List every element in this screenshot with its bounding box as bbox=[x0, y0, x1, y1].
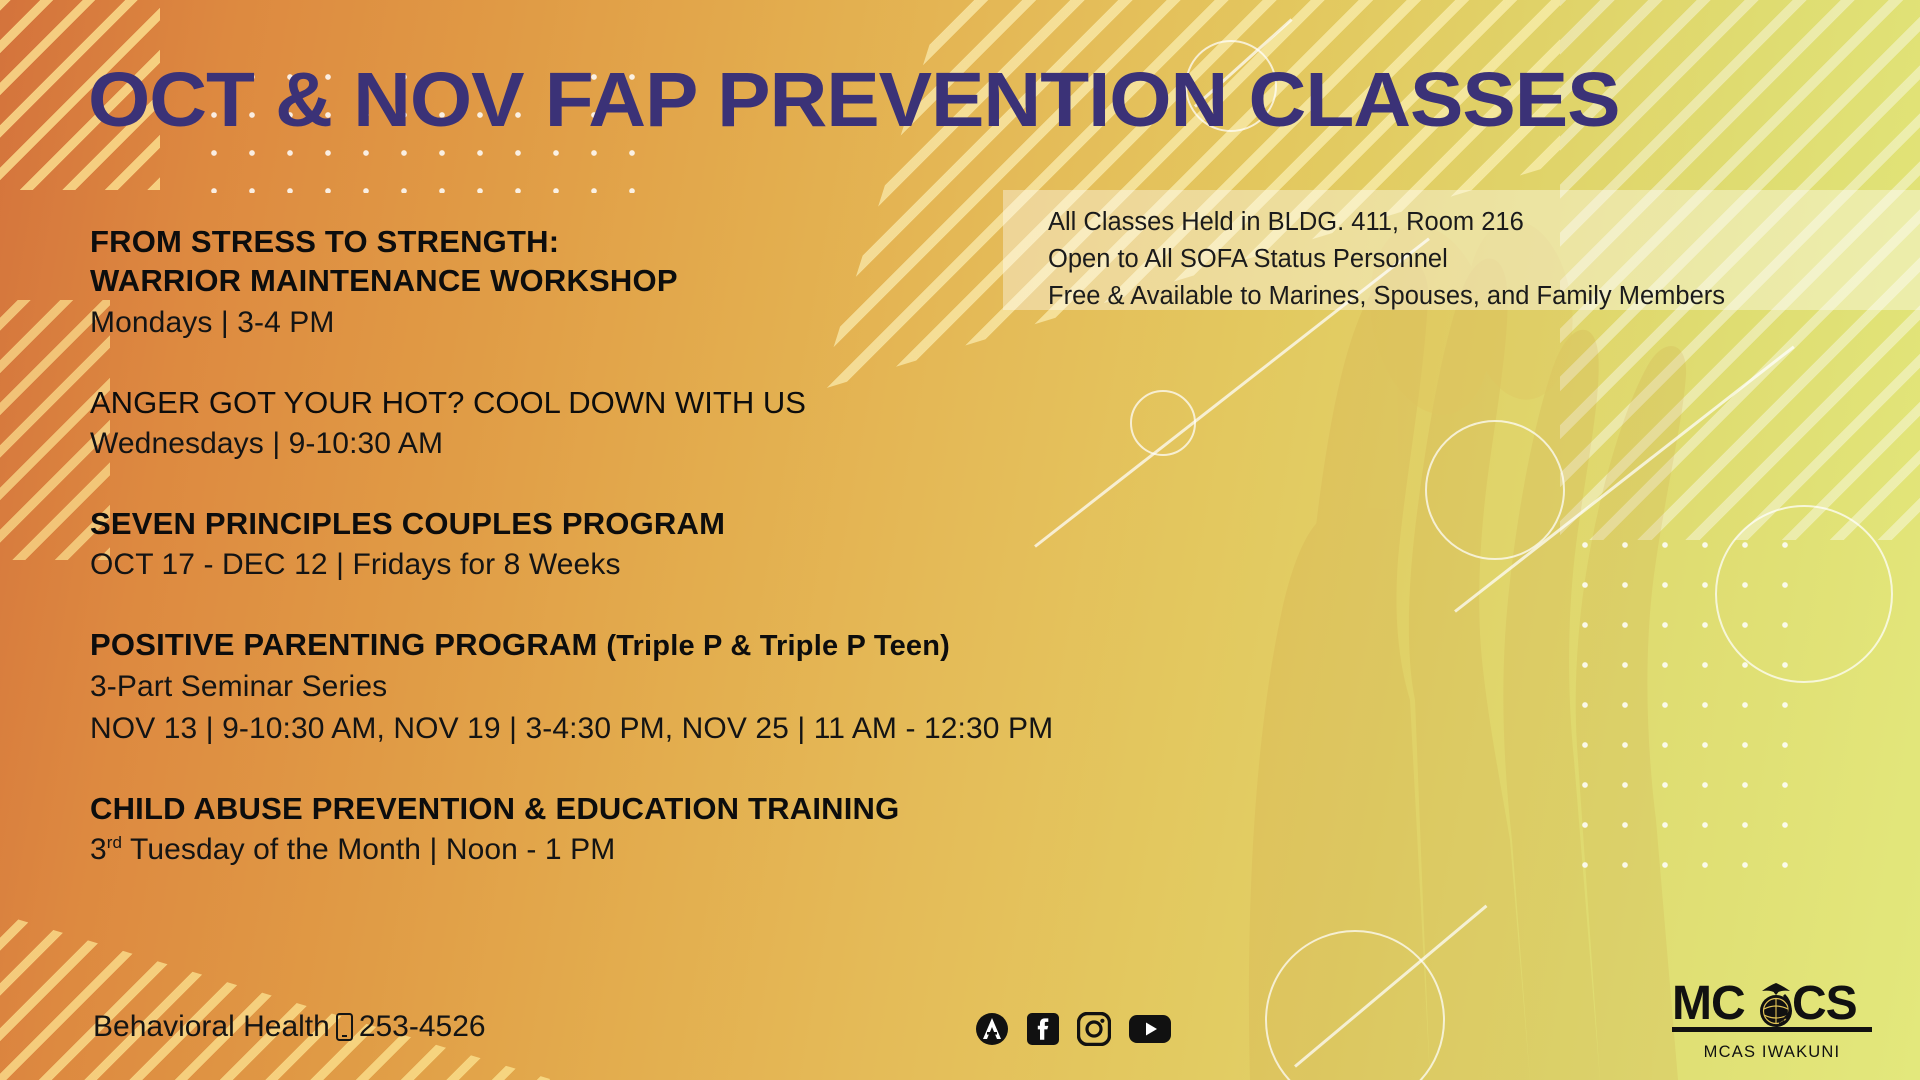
social-icons bbox=[975, 1012, 1172, 1046]
class-schedule: NOV 13 | 9-10:30 AM, NOV 19 | 3-4:30 PM,… bbox=[90, 709, 1270, 749]
class-item-stress-to-strength: FROM STRESS TO STRENGTH: WARRIOR MAINTEN… bbox=[90, 222, 1270, 343]
mccs-wordmark: MC CS bbox=[1672, 975, 1872, 1037]
logo-subtitle: MCAS IWAKUNI bbox=[1672, 1043, 1872, 1062]
class-item-child-abuse-prevention: CHILD ABUSE PREVENTION & EDUCATION TRAIN… bbox=[90, 789, 1270, 870]
svg-text:MC: MC bbox=[1672, 977, 1745, 1030]
class-heading-main: POSITIVE PARENTING PROGRAM bbox=[90, 627, 598, 662]
class-heading-parenthetical: (Triple P & Triple P Teen) bbox=[606, 630, 950, 662]
page-title: OCT & NOV FAP PREVENTION CLASSES bbox=[88, 56, 1619, 145]
mobile-phone-icon bbox=[336, 1013, 353, 1041]
facebook-icon[interactable] bbox=[1026, 1012, 1060, 1046]
class-item-seven-principles: SEVEN PRINCIPLES COUPLES PROGRAM OCT 17 … bbox=[90, 504, 1270, 585]
apple-music-icon[interactable] bbox=[975, 1012, 1009, 1046]
class-heading: CHILD ABUSE PREVENTION & EDUCATION TRAIN… bbox=[90, 789, 1270, 828]
class-schedule: 3rd Tuesday of the Month | Noon - 1 PM bbox=[90, 830, 1270, 870]
class-heading: FROM STRESS TO STRENGTH: bbox=[90, 222, 1270, 261]
class-item-anger-management: ANGER GOT YOUR HOT? COOL DOWN WITH US We… bbox=[90, 383, 1270, 464]
schedule-ordinal-number: 3 bbox=[90, 833, 107, 866]
schedule-ordinal-suffix: rd bbox=[107, 833, 122, 852]
class-schedule: Mondays | 3-4 PM bbox=[90, 303, 1270, 343]
flyer-canvas: OCT & NOV FAP PREVENTION CLASSES All Cla… bbox=[0, 0, 1920, 1080]
class-heading: ANGER GOT YOUR HOT? COOL DOWN WITH US bbox=[90, 383, 1270, 422]
mccs-logo: MC CS MCAS IWAKUNI bbox=[1672, 975, 1872, 1062]
class-schedule: OCT 17 - DEC 12 | Fridays for 8 Weeks bbox=[90, 545, 1270, 585]
schedule-rest: Tuesday of the Month | Noon - 1 PM bbox=[122, 833, 615, 866]
contact-line: Behavioral Health 253-4526 bbox=[93, 1010, 486, 1044]
class-heading: SEVEN PRINCIPLES COUPLES PROGRAM bbox=[90, 504, 1270, 543]
youtube-icon[interactable] bbox=[1128, 1013, 1172, 1045]
instagram-icon[interactable] bbox=[1077, 1012, 1111, 1046]
class-item-positive-parenting: POSITIVE PARENTING PROGRAM (Triple P & T… bbox=[90, 625, 1270, 749]
phone-number[interactable]: 253-4526 bbox=[359, 1010, 486, 1044]
class-heading-line2: WARRIOR MAINTENANCE WORKSHOP bbox=[90, 261, 1270, 300]
eagle-globe-anchor-icon bbox=[1760, 983, 1792, 1027]
class-schedule: Wednesdays | 9-10:30 AM bbox=[90, 424, 1270, 464]
department-label: Behavioral Health bbox=[93, 1010, 330, 1044]
svg-text:CS: CS bbox=[1792, 977, 1857, 1030]
class-series-label: 3-Part Seminar Series bbox=[90, 667, 1270, 707]
class-heading: POSITIVE PARENTING PROGRAM (Triple P & T… bbox=[90, 625, 1270, 665]
class-list: FROM STRESS TO STRENGTH: WARRIOR MAINTEN… bbox=[90, 222, 1270, 870]
